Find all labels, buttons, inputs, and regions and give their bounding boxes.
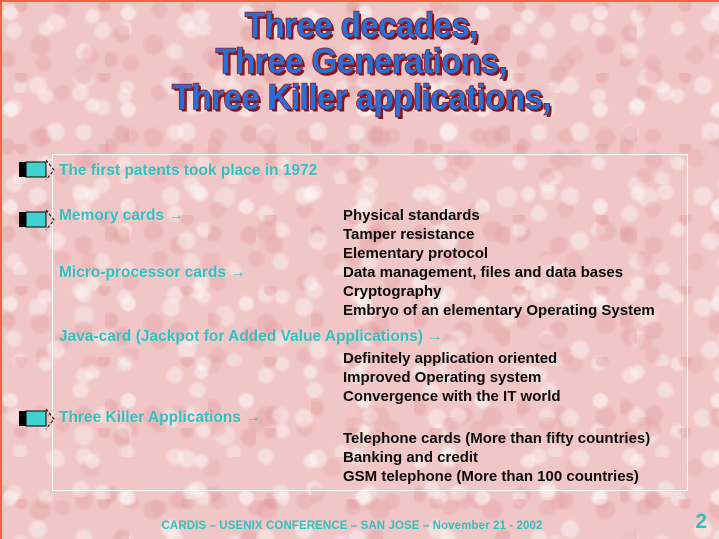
arrow-bullet-icon <box>18 159 58 181</box>
detail-cryptography: Cryptography <box>343 283 441 301</box>
detail-improved-operating-system: Improved Operating system <box>343 369 541 387</box>
presentation-slide: Three decades, Three Generations, Three … <box>0 0 719 539</box>
title-line-2: Three Generations, <box>24 44 700 80</box>
detail-gsm-telephone: GSM telephone (More than 100 countries) <box>343 468 639 486</box>
heading-first-patents: The first patents took place in 1972 <box>59 162 317 180</box>
page-number: 2 <box>695 510 707 534</box>
heading-memory-cards: Memory cards → <box>59 207 184 225</box>
detail-data-management: Data management, files and data bases <box>343 264 623 282</box>
title-line-1: Three decades, <box>24 8 700 44</box>
detail-embryo-operating-system: Embryo of an elementary Operating System <box>343 302 655 320</box>
detail-tamper-resistance: Tamper resistance <box>343 226 474 244</box>
footer-conference-info: CARDIS – USENIX CONFERENCE – SAN JOSE – … <box>2 520 702 532</box>
title-line-3: Three Killer applications, <box>24 80 700 116</box>
arrow-bullet-icon <box>18 209 58 231</box>
detail-elementary-protocol: Elementary protocol <box>343 245 488 263</box>
detail-definitely-application-oriented: Definitely application oriented <box>343 350 557 368</box>
detail-banking-and-credit: Banking and credit <box>343 449 478 467</box>
heading-three-killer-applications: Three Killer Applications → <box>59 409 261 427</box>
detail-convergence-it-world: Convergence with the IT world <box>343 388 561 406</box>
detail-physical-standards: Physical standards <box>343 207 480 225</box>
arrow-bullet-icon <box>18 408 58 430</box>
slide-title: Three decades, Three Generations, Three … <box>2 8 719 116</box>
detail-telephone-cards: Telephone cards (More than fifty countri… <box>343 430 650 448</box>
heading-java-card: Java-card (Jackpot for Added Value Appli… <box>59 328 443 346</box>
heading-micro-processor-cards: Micro-processor cards → <box>59 264 246 282</box>
